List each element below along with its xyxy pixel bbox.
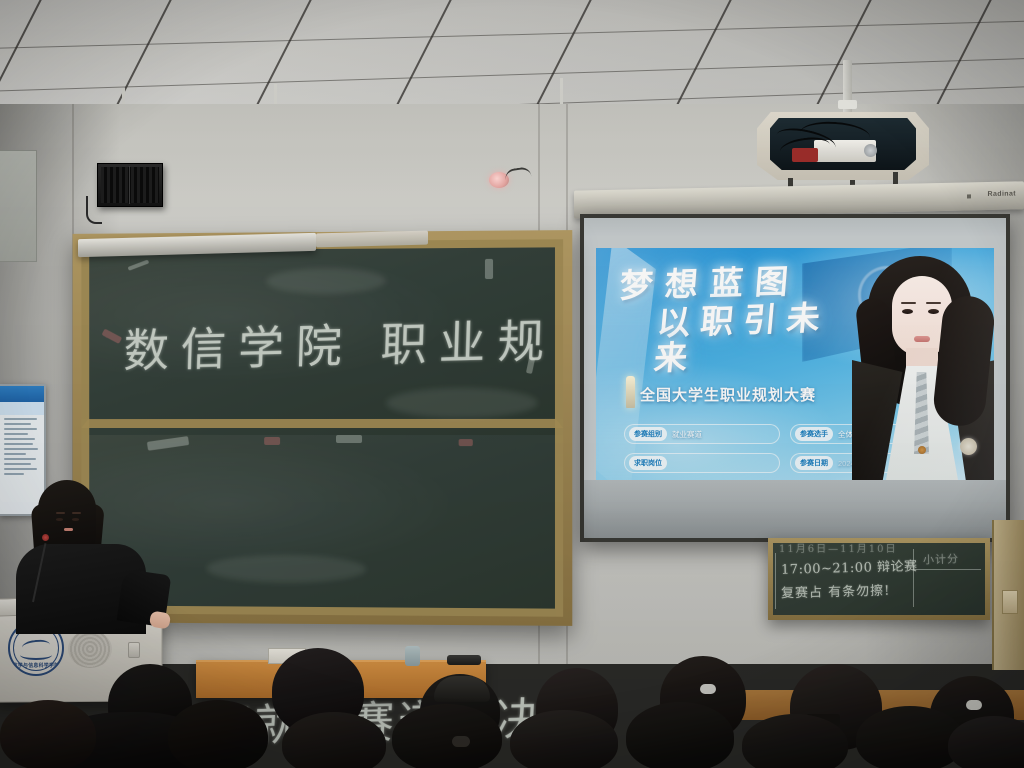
presenter-brow: [72, 512, 81, 514]
audience-head: [510, 710, 618, 768]
cap-icon: [434, 676, 490, 702]
audience-head: [168, 700, 268, 768]
desk-object: [447, 655, 481, 665]
side-blackboard: 11月6日—11月10日 17:00~21:00 辩论赛 复赛占 有条勿擦! 小…: [768, 538, 990, 620]
wall-speaker: [97, 163, 163, 207]
ceiling: [0, 0, 1024, 112]
speaker-cable: [86, 196, 102, 224]
classroom-scene: 课堂教学规定 Radinat: [0, 0, 1024, 768]
seal-wave-icon: [20, 650, 52, 660]
presenter-eye: [56, 518, 63, 521]
tag-pill: 参赛组别 就业赛道: [624, 424, 780, 444]
audience-head: [626, 702, 734, 768]
chalk-mark-red: [102, 329, 123, 344]
audience-head: [742, 714, 848, 768]
tag-key: 求职岗位: [629, 456, 667, 470]
person-jacket-button: [918, 446, 926, 454]
side-blackboard-surface: 11月6日—11月10日 17:00~21:00 辩论赛 复赛占 有条勿擦! 小…: [773, 543, 985, 615]
valance-brand-label: Radinat: [988, 190, 1016, 198]
tag-value: 就业赛道: [672, 429, 702, 440]
person-eye: [902, 309, 913, 314]
podium-control-button[interactable]: [128, 642, 140, 658]
presenter-brow: [56, 512, 65, 514]
seal-bottom-label: 数学与信息科学学院: [13, 662, 60, 669]
notice-board-header: [0, 386, 44, 402]
person-eye: [928, 309, 939, 314]
projector-assembly: [770, 118, 916, 170]
hair-tie-icon: [452, 736, 470, 747]
side-blackboard-line-1: 17:00~21:00 辩论赛: [781, 555, 918, 578]
blackboard-panel-top: 数信学院 职业规: [81, 239, 563, 428]
chalk-mark: [147, 436, 189, 451]
projector-mount-band: [838, 100, 857, 109]
side-blackboard-rule: [775, 553, 776, 609]
notice-board-text: [0, 415, 44, 475]
blackboard-light-fixture-secondary: [316, 231, 428, 248]
torch-icon: [626, 376, 635, 408]
projector-lens-icon: [864, 144, 877, 157]
audience-head: [856, 706, 964, 768]
ceiling-shade: [0, 0, 1024, 112]
chalk-smudge: [207, 554, 366, 583]
audience-head: [282, 712, 386, 768]
chalk-mark: [485, 259, 493, 279]
hair-tie-icon: [700, 684, 716, 694]
presenter-lips: [64, 528, 73, 531]
person-brow: [926, 302, 941, 304]
person-lips: [914, 336, 930, 342]
screen-lower-band: [584, 480, 1006, 538]
slide-title-line2: 以职引未来: [653, 299, 874, 376]
chalk-mark-red: [459, 439, 473, 446]
notice-board: 课堂教学规定: [0, 384, 46, 516]
speaker-divider: [129, 166, 130, 204]
notice-board-title-strip: [0, 402, 44, 415]
slide-subtitle: 全国大学生职业规划大赛: [640, 384, 816, 405]
tag-pill: 求职岗位: [624, 453, 780, 473]
hair-tie-icon: [966, 700, 982, 710]
projection-surface: 梦想蓝图 以职引未来 全国大学生职业规划大赛 参赛组别 就业赛道 参赛选手 全体: [584, 218, 1006, 538]
tag-key: 参赛日期: [795, 456, 833, 470]
projector-mount-rod: [843, 60, 852, 118]
person-brow: [901, 302, 916, 304]
side-blackboard-line-2: 复赛占 有条勿擦!: [781, 580, 891, 602]
chalk-mark: [128, 259, 150, 270]
door-plate: [1002, 590, 1018, 614]
slide-title-line1: 梦想蓝图: [618, 263, 871, 304]
audience-head: [0, 700, 96, 768]
desk-bottle: [405, 646, 420, 666]
slide-title: 梦想蓝图 以职引未来: [620, 266, 870, 372]
side-blackboard-line-0: 11月6日—11月10日: [779, 543, 898, 555]
microphone-icon: [42, 534, 49, 541]
tag-key: 参赛组别: [629, 427, 667, 441]
person-school-badge-icon: [960, 438, 977, 455]
projection-screen: 梦想蓝图 以职引未来 全国大学生职业规划大赛 参赛组别 就业赛道 参赛选手 全体: [580, 214, 1010, 542]
blackboard-text-line-1: 数信学院 职业规: [123, 304, 558, 381]
side-blackboard-rule: [913, 569, 981, 570]
slide-person-photo: 职业装学生形象: [846, 248, 994, 480]
slide-content: 梦想蓝图 以职引未来 全国大学生职业规划大赛 参赛组别 就业赛道 参赛选手 全体: [596, 248, 994, 480]
side-blackboard-line-3: 小计分: [923, 550, 960, 567]
chalk-mark: [336, 435, 362, 443]
chalk-smudge: [266, 268, 386, 295]
blackboard-surface: 数信学院 职业规 划大赛就业赛道总决赛: [81, 239, 563, 617]
podium-speaker-grille-icon: [68, 630, 112, 668]
chalk-smudge: [386, 388, 538, 418]
tag-key: 参赛选手: [795, 427, 833, 441]
wall-utility-panel: [0, 150, 37, 262]
speaker-grille-icon: [101, 167, 159, 203]
chalk-mark-red: [264, 437, 280, 445]
presenter-eye: [72, 518, 79, 521]
audience-head: [392, 704, 502, 768]
valance-marker: [967, 194, 971, 198]
main-blackboard: 数信学院 职业规 划大赛就业赛道总决赛: [73, 230, 573, 626]
